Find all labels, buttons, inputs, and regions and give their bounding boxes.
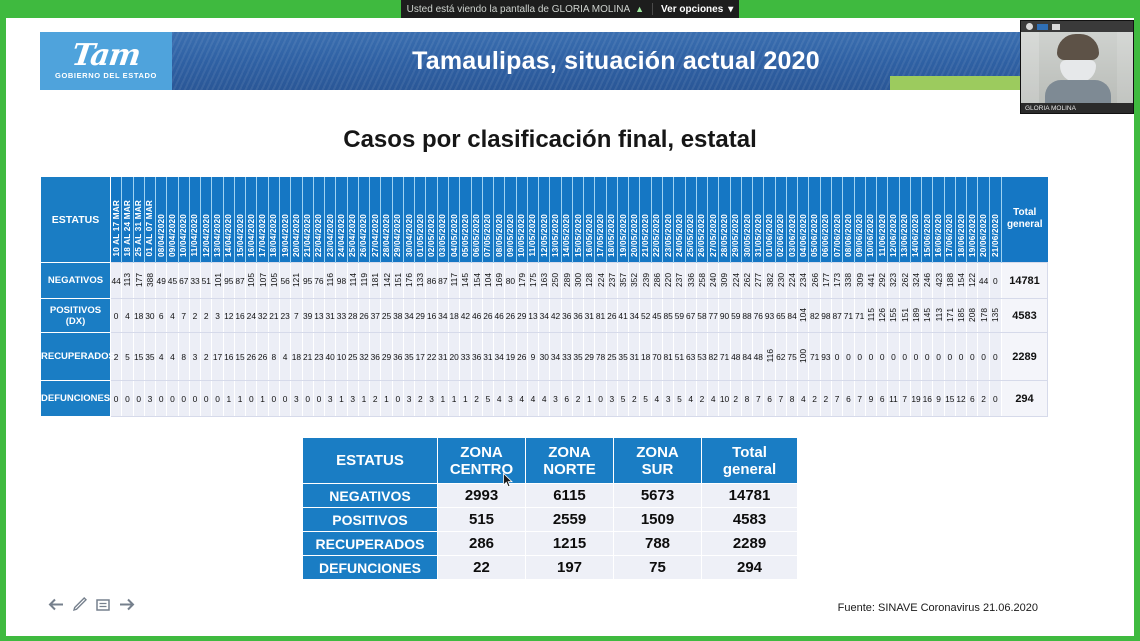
zone-row-value: 286: [438, 532, 526, 556]
matrix-cell: 151: [899, 299, 910, 333]
matrix-date-header: 18/05/2020: [606, 177, 617, 263]
matrix-date-header: 18/06/2020: [955, 177, 966, 263]
matrix-date-header: 15/04/2020: [234, 177, 245, 263]
matrix-cell: 154: [955, 263, 966, 299]
matrix-cell: 33: [336, 299, 347, 333]
body-shape: [1045, 80, 1111, 105]
matrix-cell: 1: [336, 381, 347, 417]
matrix-date-header: 08/06/2020: [843, 177, 854, 263]
matrix-cell: 29: [381, 333, 392, 381]
matrix-date-header: 06/05/2020: [471, 177, 482, 263]
matrix-cell: 87: [234, 263, 245, 299]
matrix-cell: 5: [674, 381, 685, 417]
matrix-cell: 2: [820, 381, 831, 417]
matrix-date-header: 04/05/2020: [448, 177, 459, 263]
matrix-cell: 7: [753, 381, 764, 417]
matrix-cell: 441: [865, 263, 876, 299]
matrix-cell: 59: [730, 299, 741, 333]
matrix-cell: 35: [403, 333, 414, 381]
matrix-date-header: 19/05/2020: [617, 177, 628, 263]
matrix-cell: 8: [178, 333, 189, 381]
slide-icon[interactable]: [96, 598, 110, 616]
matrix-cell: 3: [505, 381, 516, 417]
matrix-cell: 0: [989, 381, 1001, 417]
matrix-cell: 1: [448, 381, 459, 417]
zone-row-value: 75: [614, 556, 702, 580]
matrix-cell: 6: [967, 381, 978, 417]
matrix-cell: 0: [212, 381, 223, 417]
matrix-cell: 15: [234, 333, 245, 381]
matrix-cell: 179: [516, 263, 527, 299]
matrix-cell: 81: [663, 333, 674, 381]
matrix-cell: 0: [922, 333, 933, 381]
view-options-button[interactable]: Ver opciones: [661, 4, 723, 15]
matrix-cell: 26: [482, 299, 493, 333]
matrix-cell: 2: [370, 381, 381, 417]
matrix-row-label: DEFUNCIONES: [41, 381, 111, 417]
matrix-cell: 250: [550, 263, 561, 299]
matrix-date-header: 03/06/2020: [786, 177, 797, 263]
matrix-cell: 145: [460, 263, 471, 299]
matrix-date-header: 06/06/2020: [820, 177, 831, 263]
matrix-date-header: 30/05/2020: [741, 177, 752, 263]
matrix-cell: 31: [437, 333, 448, 381]
matrix-cell: 105: [268, 263, 279, 299]
matrix-cell: 258: [696, 263, 707, 299]
government-logo: Tam GOBIERNO DEL ESTADO: [40, 32, 172, 90]
matrix-cell: 1: [584, 381, 595, 417]
matrix-cell: 292: [877, 263, 888, 299]
matrix-cell: 6: [764, 381, 775, 417]
matrix-cell: 266: [809, 263, 820, 299]
matrix-date-header: 11/05/2020: [527, 177, 538, 263]
matrix-cell: 44: [978, 263, 989, 299]
matrix-date-header: 28/04/2020: [381, 177, 392, 263]
running-person-icon: ▲: [635, 4, 644, 14]
matrix-date-header: 14/04/2020: [223, 177, 234, 263]
matrix-cell: 0: [133, 381, 144, 417]
matrix-cell: 8: [741, 381, 752, 417]
matrix-cell: 121: [291, 263, 302, 299]
matrix-cell: 0: [877, 333, 888, 381]
matrix-cell: 3: [144, 381, 155, 417]
matrix-cell: 5: [122, 333, 133, 381]
matrix-cell: 93: [764, 299, 775, 333]
matrix-cell: 352: [629, 263, 640, 299]
slide-header: Tam GOBIERNO DEL ESTADO Tamaulipas, situ…: [40, 32, 1060, 90]
matrix-cell: 31: [482, 333, 493, 381]
matrix-cell: 11: [888, 381, 899, 417]
matrix-date-header: 07/06/2020: [832, 177, 843, 263]
screen-share-banner: Usted está viendo la pantalla de GLORIA …: [0, 0, 1140, 18]
zone-row-value: 2559: [526, 508, 614, 532]
matrix-date-header: 09/05/2020: [505, 177, 516, 263]
matrix-date-header: 15/05/2020: [572, 177, 583, 263]
matrix-cell: 113: [122, 263, 133, 299]
daily-matrix-table: ESTATUS 10 AL 17 MAR18 AL 24 MAR25 AL 31…: [40, 176, 1060, 417]
matrix-cell: 185: [955, 299, 966, 333]
matrix-cell: 95: [302, 263, 313, 299]
video-window-controls[interactable]: [1021, 21, 1134, 32]
matrix-cell: 224: [786, 263, 797, 299]
zone-row-label: RECUPERADOS: [303, 532, 438, 556]
matrix-cell: 2: [629, 381, 640, 417]
matrix-cell: 31: [629, 333, 640, 381]
matrix-cell: 4: [685, 381, 696, 417]
matrix-cell: 2: [415, 381, 426, 417]
minimize-icon[interactable]: [1026, 23, 1033, 30]
matrix-cell: 5: [482, 381, 493, 417]
matrix-cell: 59: [674, 299, 685, 333]
matrix-cell: 3: [291, 381, 302, 417]
matrix-date-header: 25/04/2020: [347, 177, 358, 263]
maximize-icon[interactable]: [1037, 24, 1048, 30]
matrix-total-header-line: general: [1002, 219, 1048, 231]
slide-nav-icons[interactable]: [48, 597, 135, 616]
zone-row-value: 22: [438, 556, 526, 580]
matrix-date-header: 18/04/2020: [268, 177, 279, 263]
matrix-date-header: 17/06/2020: [944, 177, 955, 263]
matrix-row-label: POSITIVOS(DX): [41, 299, 111, 333]
matrix-date-header: 26/05/2020: [696, 177, 707, 263]
matrix-cell: 10: [336, 333, 347, 381]
matrix-cell: 289: [561, 263, 572, 299]
matrix-cell: 423: [933, 263, 944, 299]
matrix-cell: 286: [651, 263, 662, 299]
matrix-cell: 33: [460, 333, 471, 381]
matrix-row-total: 4583: [1002, 299, 1048, 333]
matrix-cell: 21: [268, 299, 279, 333]
chevron-down-icon[interactable]: ▾: [728, 4, 733, 15]
matrix-cell: 1: [358, 381, 369, 417]
matrix-cell: 16: [234, 299, 245, 333]
matrix-cell: 25: [606, 333, 617, 381]
participant-webcam-image: [1021, 32, 1134, 105]
matrix-cell: 95: [223, 263, 234, 299]
matrix-cell: 7: [291, 299, 302, 333]
source-note: Fuente: SINAVE Coronavirus 21.06.2020: [838, 602, 1038, 614]
matrix-cell: 116: [764, 333, 775, 381]
matrix-date-header: 01 AL 07 MAR: [144, 177, 155, 263]
participant-name-label: GLORIA MOLINA: [1021, 103, 1134, 113]
matrix-date-header: 29/04/2020: [392, 177, 403, 263]
matrix-cell: 224: [595, 263, 606, 299]
matrix-cell: 82: [809, 299, 820, 333]
matrix-cell: 3: [189, 333, 200, 381]
zone-header-row: ESTATUSZONACENTROZONANORTEZONASURTotalge…: [303, 438, 798, 484]
matrix-cell: 56: [279, 263, 290, 299]
matrix-date-header: 21/04/2020: [302, 177, 313, 263]
matrix-cell: 181: [370, 263, 381, 299]
zone-row-value: 2289: [702, 532, 798, 556]
matrix-cell: 77: [708, 299, 719, 333]
matrix-cell: 0: [178, 381, 189, 417]
matrix-cell: 175: [527, 263, 538, 299]
matrix-cell: 145: [922, 299, 933, 333]
matrix-cell: 85: [663, 299, 674, 333]
matrix-cell: 173: [832, 263, 843, 299]
matrix-cell: 133: [415, 263, 426, 299]
matrix-cell: 25: [347, 333, 358, 381]
matrix-cell: 4: [708, 381, 719, 417]
zone-header-cell: ZONASUR: [614, 438, 702, 484]
close-icon[interactable]: [1052, 24, 1060, 30]
matrix-cell: 53: [696, 333, 707, 381]
matrix-cell: 0: [832, 333, 843, 381]
matrix-date-header: 24/05/2020: [674, 177, 685, 263]
matrix-cell: 15: [133, 333, 144, 381]
matrix-cell: 80: [505, 263, 516, 299]
matrix-cell: 16: [426, 299, 437, 333]
matrix-cell: 46: [494, 299, 505, 333]
matrix-date-header: 02/06/2020: [775, 177, 786, 263]
matrix-cell: 32: [358, 333, 369, 381]
matrix-cell: 188: [944, 263, 955, 299]
matrix-cell: 5: [617, 381, 628, 417]
matrix-date-header: 12/06/2020: [888, 177, 899, 263]
zone-row-value: 1509: [614, 508, 702, 532]
matrix-cell: 25: [381, 299, 392, 333]
matrix-cell: 18: [640, 333, 651, 381]
matrix-cell: 4: [527, 381, 538, 417]
matrix-cell: 0: [392, 381, 403, 417]
matrix-date-header: 09/06/2020: [854, 177, 865, 263]
matrix-cell: 126: [877, 299, 888, 333]
matrix-cell: 16: [223, 333, 234, 381]
matrix-date-header: 29/05/2020: [730, 177, 741, 263]
matrix-cell: 2: [201, 333, 212, 381]
matrix-row-label: NEGATIVOS: [41, 263, 111, 299]
matrix-total-header: Totalgeneral: [1002, 177, 1048, 263]
matrix-cell: 36: [572, 299, 583, 333]
matrix-date-header: 10/06/2020: [865, 177, 876, 263]
matrix-date-header: 21/06/2020: [989, 177, 1001, 263]
matrix-cell: 0: [955, 333, 966, 381]
matrix-cell: 12: [955, 381, 966, 417]
matrix-cell: 1: [460, 381, 471, 417]
zone-row-value: 4583: [702, 508, 798, 532]
matrix-date-header: 04/06/2020: [798, 177, 809, 263]
matrix-date-header: 26/04/2020: [358, 177, 369, 263]
matrix-cell: 323: [888, 263, 899, 299]
matrix-cell: 0: [933, 333, 944, 381]
matrix-cell: 338: [843, 263, 854, 299]
matrix-cell: 2: [471, 381, 482, 417]
matrix-cell: 29: [516, 299, 527, 333]
matrix-date-header: 18 AL 24 MAR: [122, 177, 133, 263]
matrix-cell: 0: [201, 381, 212, 417]
matrix-cell: 169: [494, 263, 505, 299]
matrix-cell: 48: [753, 333, 764, 381]
matrix-date-header: 27/04/2020: [370, 177, 381, 263]
matrix-cell: 33: [561, 333, 572, 381]
matrix-cell: 16: [922, 381, 933, 417]
matrix-row: DEFUNCIONES00030000001101003003131210323…: [41, 381, 1048, 417]
matrix-cell: 36: [561, 299, 572, 333]
matrix-cell: 300: [572, 263, 583, 299]
matrix-cell: 0: [843, 333, 854, 381]
matrix-cell: 35: [144, 333, 155, 381]
matrix-cell: 3: [663, 381, 674, 417]
matrix-cell: 13: [313, 299, 324, 333]
matrix-cell: 119: [358, 263, 369, 299]
matrix-cell: 33: [189, 263, 200, 299]
matrix-cell: 71: [854, 299, 865, 333]
matrix-date-header: 20/04/2020: [291, 177, 302, 263]
matrix-cell: 128: [584, 263, 595, 299]
matrix-cell: 52: [640, 299, 651, 333]
zone-summary-table: ESTATUSZONACENTROZONANORTEZONASURTotalge…: [40, 437, 1060, 580]
matrix-row: RECUPERADOS25153544832171615262684182123…: [41, 333, 1048, 381]
zone-row-value: 2993: [438, 484, 526, 508]
matrix-cell: 67: [685, 299, 696, 333]
matrix-cell: 2: [189, 299, 200, 333]
matrix-cell: 26: [257, 333, 268, 381]
zone-table-row: DEFUNCIONES2219775294: [303, 556, 798, 580]
matrix-cell: 0: [111, 381, 122, 417]
matrix-cell: 26: [505, 299, 516, 333]
matrix-cell: 122: [967, 263, 978, 299]
next-arrow-icon[interactable]: [119, 598, 135, 616]
matrix-cell: 17: [415, 333, 426, 381]
matrix-date-header: 10/04/2020: [178, 177, 189, 263]
zone-row-label: NEGATIVOS: [303, 484, 438, 508]
matrix-cell: 3: [550, 381, 561, 417]
matrix-cell: 154: [471, 263, 482, 299]
matrix-cell: 1: [381, 381, 392, 417]
matrix-cell: 6: [561, 381, 572, 417]
matrix-cell: 177: [820, 263, 831, 299]
matrix-date-header: 07/05/2020: [482, 177, 493, 263]
matrix-cell: 71: [843, 299, 854, 333]
matrix-cell: 0: [899, 333, 910, 381]
zone-table-row: NEGATIVOS29936115567314781: [303, 484, 798, 508]
matrix-cell: 18: [448, 299, 459, 333]
matrix-cell: 75: [786, 333, 797, 381]
matrix-cell: 105: [246, 263, 257, 299]
matrix-cell: 0: [967, 333, 978, 381]
matrix-row-total: 2289: [1002, 333, 1048, 381]
matrix-cell: 101: [212, 263, 223, 299]
matrix-cell: 324: [910, 263, 921, 299]
matrix-date-header: 22/04/2020: [313, 177, 324, 263]
logo-wordmark: Tam: [70, 42, 142, 70]
matrix-cell: 0: [156, 381, 167, 417]
matrix-date-header: 08/05/2020: [494, 177, 505, 263]
matrix-cell: 6: [843, 381, 854, 417]
previous-arrow-icon[interactable]: [48, 598, 64, 616]
matrix-cell: 5: [640, 381, 651, 417]
matrix-cell: 4: [539, 381, 550, 417]
matrix-cell: 37: [370, 299, 381, 333]
matrix-cell: 26: [246, 333, 257, 381]
slide-footer: Fuente: SINAVE Coronavirus 21.06.2020: [40, 592, 1060, 614]
matrix-cell: 24: [246, 299, 257, 333]
matrix-row-total: 14781: [1002, 263, 1048, 299]
matrix-cell: 10: [719, 381, 730, 417]
matrix-date-header: 20/06/2020: [978, 177, 989, 263]
matrix-cell: 81: [595, 299, 606, 333]
matrix-cell: 71: [719, 333, 730, 381]
zone-header-cell: ESTATUS: [303, 438, 438, 484]
zone-row-value: 197: [526, 556, 614, 580]
matrix-cell: 2: [978, 381, 989, 417]
matrix-cell: 0: [313, 381, 324, 417]
matrix-cell: 4: [279, 333, 290, 381]
matrix-cell: 93: [820, 333, 831, 381]
matrix-cell: 19: [910, 381, 921, 417]
matrix-date-header: 14/06/2020: [910, 177, 921, 263]
matrix-cell: 18: [133, 299, 144, 333]
matrix-cell: 246: [922, 263, 933, 299]
matrix-cell: 178: [978, 299, 989, 333]
matrix-cell: 309: [854, 263, 865, 299]
matrix-cell: 76: [753, 299, 764, 333]
matrix-cell: 58: [696, 299, 707, 333]
page-title: Tamaulipas, situación actual 2020: [412, 47, 820, 76]
shared-screen-slide: Tam GOBIERNO DEL ESTADO Tamaulipas, situ…: [6, 18, 1134, 636]
matrix-cell: 7: [832, 381, 843, 417]
matrix-date-header: 05/06/2020: [809, 177, 820, 263]
matrix-cell: 31: [325, 299, 336, 333]
matrix-date-header: 14/05/2020: [561, 177, 572, 263]
participant-video-tile[interactable]: GLORIA MOLINA: [1020, 20, 1134, 114]
zone-row-value: 294: [702, 556, 798, 580]
matrix-cell: 7: [775, 381, 786, 417]
hair-shape: [1057, 34, 1099, 60]
matrix-cell: 8: [268, 333, 279, 381]
matrix-cell: 2: [730, 381, 741, 417]
divider: [652, 3, 653, 15]
matrix-cell: 2: [201, 299, 212, 333]
matrix-row: POSITIVOS(DX)041830647223121624322123739…: [41, 299, 1048, 333]
matrix-row: NEGATIVOS4411317738849456733511019587105…: [41, 263, 1048, 299]
matrix-cell: 34: [539, 299, 550, 333]
matrix-cell: 7: [178, 299, 189, 333]
matrix-cell: 177: [133, 263, 144, 299]
matrix-cell: 36: [471, 333, 482, 381]
matrix-cell: 32: [257, 299, 268, 333]
matrix-cell: 13: [527, 299, 538, 333]
matrix-cell: 3: [426, 381, 437, 417]
matrix-date-header: 12/05/2020: [539, 177, 550, 263]
matrix-cell: 9: [933, 381, 944, 417]
matrix-cell: 76: [313, 263, 324, 299]
matrix-cell: 90: [719, 299, 730, 333]
matrix-date-header: 17/05/2020: [595, 177, 606, 263]
matrix-cell: 309: [719, 263, 730, 299]
matrix-cell: 0: [268, 381, 279, 417]
matrix-cell: 104: [482, 263, 493, 299]
zone-row-label: DEFUNCIONES: [303, 556, 438, 580]
zone-row-value: 788: [614, 532, 702, 556]
matrix-cell: 41: [617, 299, 628, 333]
matrix-cell: 3: [403, 381, 414, 417]
matrix-cell: 113: [933, 299, 944, 333]
matrix-cell: 4: [122, 299, 133, 333]
matrix-cell: 45: [167, 263, 178, 299]
matrix-cell: 0: [111, 299, 122, 333]
matrix-cell: 100: [798, 333, 809, 381]
matrix-cell: 18: [291, 333, 302, 381]
pen-icon[interactable]: [73, 597, 87, 616]
matrix-cell: 6: [156, 299, 167, 333]
matrix-cell: 26: [516, 333, 527, 381]
zone-header-cell: Totalgeneral: [702, 438, 798, 484]
matrix-cell: 1: [234, 381, 245, 417]
matrix-cell: 176: [403, 263, 414, 299]
matrix-cell: 0: [167, 381, 178, 417]
